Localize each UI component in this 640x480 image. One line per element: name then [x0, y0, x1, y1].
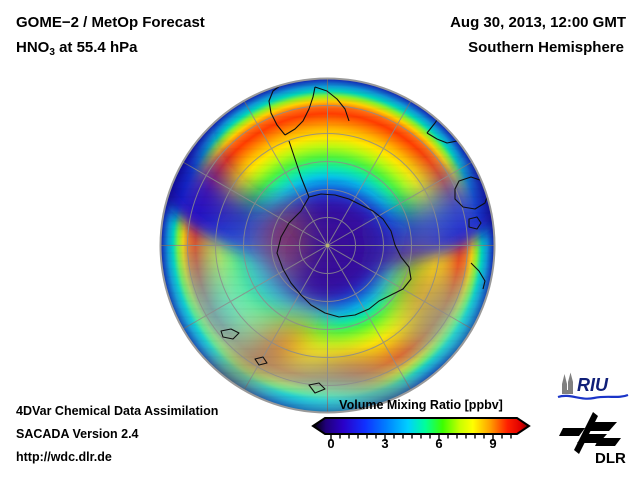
- south-pole-marker: [326, 244, 330, 248]
- valid-datetime: Aug 30, 2013, 12:00 GMT: [450, 10, 626, 35]
- species-suffix: at 55.4 hPa: [55, 39, 138, 56]
- riu-wave-icon: [558, 395, 628, 399]
- species-level-title: HNO3 at 55.4 hPa: [16, 35, 205, 62]
- map-canvas: [159, 77, 496, 414]
- colorbar-title: Volume Mixing Ratio [ppbv]: [311, 398, 531, 412]
- colorbar-tick-9: 9: [489, 436, 496, 451]
- colorbar-tick-6: 6: [435, 436, 442, 451]
- riu-wordmark: RIU: [577, 375, 609, 395]
- assimilation-label: 4DVar Chemical Data Assimilation: [16, 400, 218, 423]
- colorbar-tick-3: 3: [381, 436, 388, 451]
- header-left: GOME−2 / MetOp Forecast HNO3 at 55.4 hPa: [16, 10, 205, 62]
- colorbar-bar: [311, 417, 531, 435]
- header-right: Aug 30, 2013, 12:00 GMT Southern Hemisph…: [450, 10, 626, 60]
- colorbar-swatch: [313, 418, 529, 434]
- species-prefix: HNO: [16, 39, 49, 56]
- species-subscript: 3: [49, 47, 55, 58]
- colorbar-tick-0: 0: [327, 436, 334, 451]
- website-link[interactable]: http://wdc.dlr.de: [16, 446, 218, 469]
- dlr-wordmark: DLR: [595, 450, 626, 466]
- riu-logo: RIU: [556, 372, 630, 407]
- region-label: Southern Hemisphere: [450, 35, 626, 60]
- colorbar-gradient: [311, 417, 531, 435]
- polar-stereographic-map: [159, 77, 496, 414]
- colorbar: Volume Mixing Ratio [ppbv]: [311, 398, 531, 454]
- version-label: SACADA Version 2.4: [16, 423, 218, 446]
- cathedral-spires-icon: [562, 373, 573, 395]
- instrument-title: GOME−2 / MetOp Forecast: [16, 10, 205, 35]
- colorbar-tick-labels: 0 3 6 9: [311, 436, 531, 454]
- dlr-propeller-icon: [559, 412, 621, 454]
- riu-logo-graphic: RIU: [556, 372, 630, 402]
- dlr-logo: DLR: [557, 410, 629, 471]
- dlr-logo-graphic: DLR: [557, 410, 629, 466]
- footer-credits: 4DVar Chemical Data Assimilation SACADA …: [16, 400, 218, 469]
